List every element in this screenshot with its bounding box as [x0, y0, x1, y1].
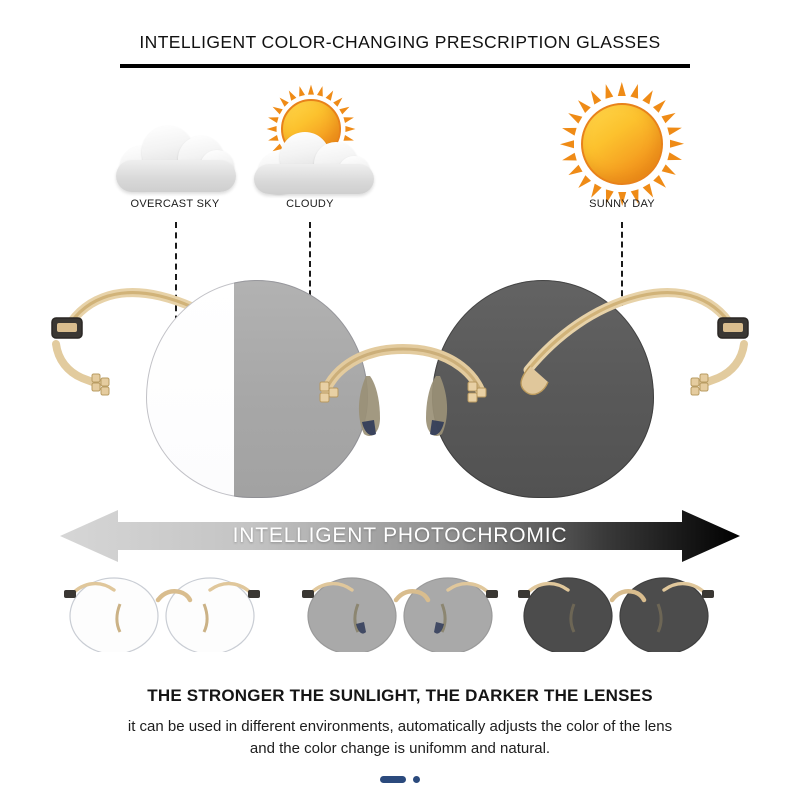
left-lens-clear-half: [146, 280, 234, 498]
sun-behind-cloud-icon: [250, 128, 378, 194]
arrow-label: INTELLIGENT PHOTOCHROMIC: [60, 524, 740, 548]
sun-ray: [566, 165, 582, 179]
sun-ray: [670, 140, 684, 148]
sun-ray: [618, 82, 626, 96]
infographic-canvas: INTELLIGENT COLOR-CHANGING PRESCRIPTION …: [0, 0, 800, 800]
photochromic-arrow: INTELLIGENT PHOTOCHROMIC: [60, 508, 740, 564]
sun-ray: [653, 175, 669, 191]
footer-headline: THE STRONGER THE SUNLIGHT, THE DARKER TH…: [0, 686, 800, 706]
title-underline: [120, 64, 690, 68]
sun-ray: [653, 97, 669, 113]
pagination-active-indicator[interactable]: [380, 776, 406, 783]
mini-glasses-medium: [300, 566, 500, 652]
sun-ray: [587, 88, 601, 104]
sun-ray: [667, 152, 683, 163]
sun-ray: [575, 175, 591, 191]
sun-ray: [661, 109, 677, 123]
sun-ray: [667, 124, 683, 135]
sun-ray: [326, 89, 336, 101]
carousel-pagination[interactable]: [0, 776, 800, 783]
sun-ray: [575, 97, 591, 113]
page-title: INTELLIGENT COLOR-CHANGING PRESCRIPTION …: [0, 32, 800, 53]
right-temple-arm: [492, 274, 752, 404]
sun-ray: [333, 95, 344, 106]
pagination-dot[interactable]: [413, 776, 420, 783]
sun-ray: [566, 110, 582, 124]
sun-ray: [286, 89, 296, 101]
nose-bridge: [318, 336, 488, 446]
sun-ray: [560, 140, 574, 148]
weather-label-sunny: SUNNY DAY: [552, 198, 692, 210]
sun-ray: [267, 115, 278, 123]
sun-icon: [562, 84, 682, 204]
sun-ray: [343, 115, 354, 123]
sun-ray: [271, 104, 283, 114]
sun-ray: [317, 85, 325, 96]
weather-label-cloudy: CLOUDY: [250, 198, 370, 210]
sun-ray: [297, 85, 305, 96]
cloud-icon: [112, 120, 240, 192]
footer-body-line1: it can be used in different environments…: [128, 718, 672, 735]
sun-ray: [602, 83, 613, 99]
hero-glasses-image: [0, 262, 800, 512]
sun-disc: [581, 103, 663, 185]
footer-body: it can be used in different environments…: [70, 716, 730, 760]
footer-body-line2: and the color change is unifomm and natu…: [250, 740, 550, 757]
sun-ray: [662, 164, 678, 178]
mini-glasses-dark: [516, 566, 716, 652]
sun-ray: [308, 85, 314, 95]
sun-ray: [277, 95, 288, 106]
sun-ray: [339, 104, 351, 114]
sun-ray: [561, 153, 577, 164]
mini-glasses-clear: [62, 566, 262, 652]
weather-label-overcast: OVERCAST SKY: [105, 198, 245, 210]
sun-ray: [630, 83, 641, 99]
sun-ray: [561, 124, 577, 135]
sun-ray: [642, 88, 656, 104]
